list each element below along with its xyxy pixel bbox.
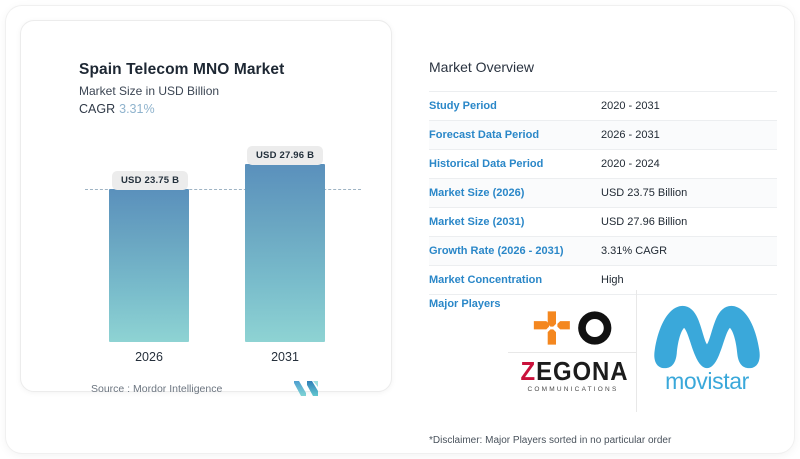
infographic-page: Spain Telecom MNO Market Market Size in …: [6, 6, 794, 453]
player-logo-zegona: ZEGONA COMMUNICATIONS: [508, 290, 636, 412]
panel-title: Market Overview: [429, 59, 534, 75]
row-key: Study Period: [429, 92, 601, 121]
market-overview-table: Study Period 2020 - 2031 Forecast Data P…: [429, 91, 777, 295]
bar-2031: [245, 164, 325, 342]
row-key: Market Size (2026): [429, 179, 601, 208]
row-value: USD 23.75 Billion: [601, 179, 777, 208]
zegona-logo-mark: [532, 310, 616, 346]
table-row: Study Period 2020 - 2031: [429, 92, 777, 121]
zegona-wordmark-initial: Z: [521, 356, 537, 386]
source-attribution: Source : Mordor Intelligence: [91, 383, 222, 395]
x-axis-label-2031: 2031: [240, 350, 330, 364]
row-key: Market Size (2031): [429, 208, 601, 237]
movistar-wordmark: movistar: [637, 370, 777, 393]
row-value: 2020 - 2024: [601, 150, 777, 179]
bar-label-2031: USD 27.96 B: [247, 146, 323, 165]
table-row: Growth Rate (2026 - 2031) 3.31% CAGR: [429, 237, 777, 266]
major-players-logos: ZEGONA COMMUNICATIONS movistar: [508, 290, 776, 412]
row-key: Growth Rate (2026 - 2031): [429, 237, 601, 266]
bar-label-2026: USD 23.75 B: [112, 171, 188, 190]
row-value: 2020 - 2031: [601, 92, 777, 121]
x-axis-label-2026: 2026: [104, 350, 194, 364]
zegona-wordmark-rest: EGONA: [536, 356, 628, 386]
row-key: Forecast Data Period: [429, 121, 601, 150]
row-value: 3.31% CAGR: [601, 237, 777, 266]
table-row: Historical Data Period 2020 - 2024: [429, 150, 777, 179]
row-key: Historical Data Period: [429, 150, 601, 179]
bar-chart-plot: USD 23.75 B 2026 USD 27.96 B 2031: [21, 21, 393, 393]
bar-2026: [109, 189, 189, 342]
table-row: Market Size (2026) USD 23.75 Billion: [429, 179, 777, 208]
major-players-label: Major Players: [429, 298, 501, 310]
zegona-divider: [508, 352, 636, 353]
zegona-wordmark: ZEGONA: [521, 358, 626, 384]
zegona-subtext: COMMUNICATIONS: [516, 386, 630, 393]
mordor-intelligence-logo: [293, 380, 319, 397]
row-value: USD 27.96 Billion: [601, 208, 777, 237]
player-logo-movistar: movistar: [636, 290, 776, 412]
table-row: Forecast Data Period 2026 - 2031: [429, 121, 777, 150]
row-value: 2026 - 2031: [601, 121, 777, 150]
players-disclaimer: *Disclaimer: Major Players sorted in no …: [429, 435, 671, 446]
chart-card: Spain Telecom MNO Market Market Size in …: [20, 20, 392, 392]
movistar-logo-mark: [651, 304, 763, 370]
table-row: Market Size (2031) USD 27.96 Billion: [429, 208, 777, 237]
market-overview-panel: Market Overview Study Period 2020 - 2031…: [420, 20, 780, 445]
